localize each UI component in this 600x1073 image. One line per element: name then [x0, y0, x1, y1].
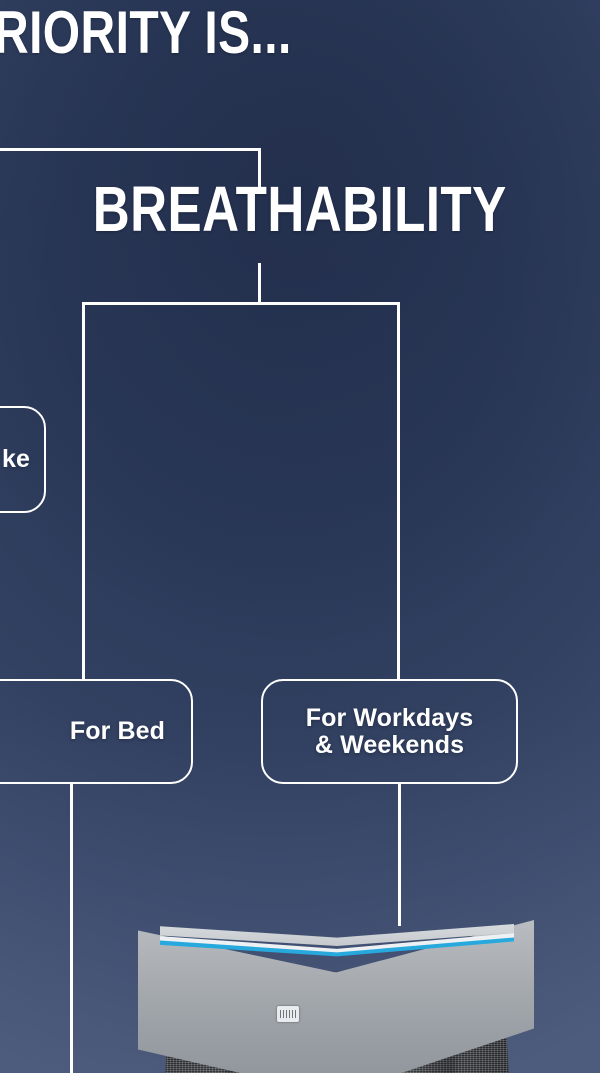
page-title: RIORITY IS...	[0, 2, 292, 64]
connector-branch-right	[397, 302, 400, 680]
connector-tail-for-bed	[70, 784, 73, 1073]
connector-branch-left	[82, 302, 85, 680]
option-label-for-workdays-weekends: For Workdays & Weekends	[306, 705, 473, 759]
connector-split-horizontal	[82, 302, 400, 305]
product-image-boxer-brief	[120, 908, 550, 1073]
option-box-for-workdays-weekends[interactable]: For Workdays & Weekends	[261, 679, 518, 784]
connector-node-stem-lower	[258, 263, 261, 305]
option-label-for-bed: For Bed	[70, 718, 165, 745]
option-box-for-bed[interactable]: For Bed	[0, 679, 193, 784]
option-label-line1: For Workdays	[306, 704, 473, 732]
connector-tail-for-workdays	[398, 784, 401, 926]
garment	[138, 920, 534, 1073]
brand-logo-patch	[277, 1006, 299, 1022]
connector-top-horizontal	[0, 148, 261, 151]
option-label-line2: & Weekends	[315, 731, 464, 759]
flowchart-node-breathability: BREATHABILITY	[93, 176, 419, 242]
slide-canvas: RIORITY IS... BREATHABILITY ke For Bed F…	[0, 0, 600, 1073]
option-box-hike[interactable]: ke	[0, 406, 46, 513]
option-label-hike: ke	[2, 446, 30, 473]
